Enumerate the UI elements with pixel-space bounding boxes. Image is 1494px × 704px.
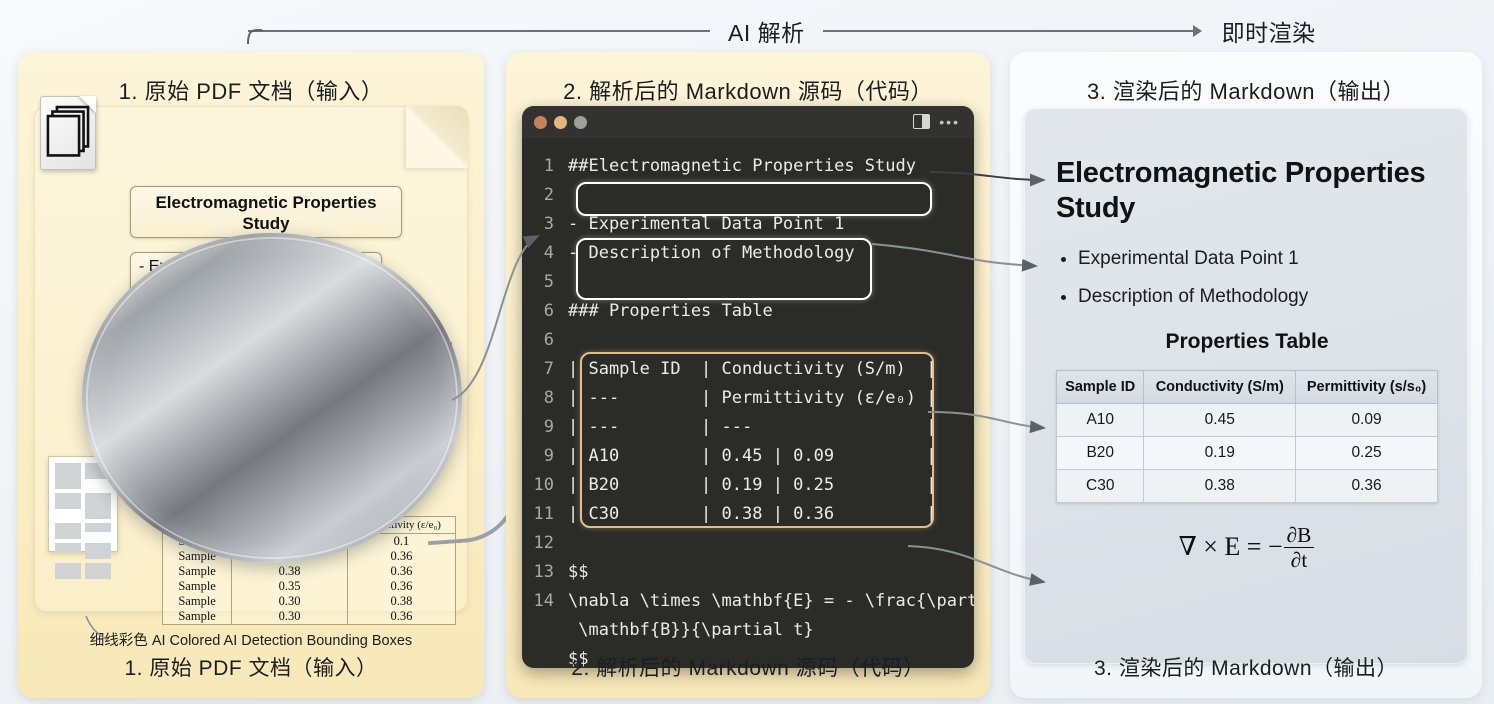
- cell: 0.1: [314, 512, 413, 529]
- code-line: 1##Electromagnetic Properties Study: [522, 152, 974, 181]
- table-header-row: Sample ID Conductivity (S/m) Permittivit…: [1057, 371, 1438, 404]
- table-row: Sample0.300.1: [146, 512, 413, 529]
- flow-arrow-head: [1193, 25, 1202, 37]
- minimize-dot-icon[interactable]: [554, 116, 567, 129]
- close-dot-icon[interactable]: [534, 116, 547, 129]
- cell: 0.30: [232, 609, 348, 625]
- pdf-logo-glyph: 🗍: [41, 111, 95, 157]
- code-line: 10| B20 | 0.19 | 0.25 |: [522, 471, 974, 500]
- line-text: \mathbf{B}}{\partial t}: [568, 616, 814, 645]
- code-line: 2: [522, 181, 974, 210]
- panel-output-title: 3. 渲染后的 Markdown（输出）: [1010, 74, 1482, 106]
- cell: 0.09: [1296, 404, 1438, 437]
- cell: 0.38: [1144, 470, 1296, 503]
- lens-secondary-table: Sample ID Conductivity (S/m) Permittivit…: [145, 492, 413, 556]
- line-number: 1: [522, 152, 568, 181]
- flow-line-left: [248, 30, 710, 32]
- lens-formula-box: ∇ × E = −∂B∂t,: [185, 432, 365, 478]
- cell: 0.36: [314, 544, 413, 556]
- table-header-row: Sample ID Couductivity (S/m) Pennittivit…: [140, 345, 411, 366]
- line-text: \nabla \times \mathbf{E} = - \frac{\part…: [568, 587, 974, 616]
- code-line: 3- Experimental Data Point 1: [522, 210, 974, 239]
- table-row: B200.190.25: [140, 385, 411, 404]
- code-line: 5: [522, 268, 974, 297]
- panel-code-footer: 2. 解析后的 Markdown 源码（代码）: [506, 652, 990, 682]
- pdf-title-bounding-box: Electromagnetic Properties Study: [130, 186, 402, 238]
- pdf-detection-caption: 细线彩色 AI Colored AI Detection Bounding Bo…: [18, 629, 484, 650]
- formula-denominator: ∂t: [1284, 548, 1315, 571]
- formula-numerator: ∂B: [1284, 524, 1315, 548]
- table-row: Sample0.350.36: [163, 579, 456, 594]
- table-header-row: Sample ID Conductivity (S/m) Permittivit…: [146, 493, 413, 512]
- col-header: Permittivity (s/s₀): [1296, 371, 1438, 404]
- output-section-heading: Properties Table: [1056, 330, 1438, 354]
- col-header: Sample ID: [140, 345, 204, 366]
- panel-code-title: 2. 解析后的 Markdown 源码（代码）: [506, 74, 990, 106]
- lens-section-heading: Properties Table: [135, 316, 290, 339]
- cell: 0.36: [1296, 470, 1438, 503]
- cell: 0.38: [347, 594, 455, 609]
- panel-rendered-output: 3. 渲染后的 Markdown（输出） Electromagnetic Pro…: [1010, 52, 1482, 698]
- code-line: 12: [522, 529, 974, 558]
- code-line: 9| A10 | 0.45 | 0.09 |: [522, 442, 974, 471]
- more-options-icon[interactable]: •••: [939, 118, 960, 126]
- col-header: Sample ID: [1057, 371, 1144, 404]
- list-item: Description of Methodology: [1078, 286, 1438, 308]
- lens-bullets-box: - Experimental Data Point 1 - Descriptio…: [127, 248, 383, 298]
- table-row: Sample0.380.36: [163, 564, 456, 579]
- code-line: 14\nabla \times \mathbf{E} = - \frac{\pa…: [522, 587, 974, 616]
- line-text: | Sample ID | Conductivity (S/m) |: [568, 355, 936, 384]
- table-row: Sample6.190.36: [146, 528, 413, 544]
- line-text: ##Electromagnetic Properties Study: [568, 152, 916, 181]
- code-line: 11| C30 | 0.38 | 0.36 |: [522, 500, 974, 529]
- cell: A10: [140, 366, 204, 386]
- line-text: | --- | Permittivity (ε/e₀) |: [568, 384, 936, 413]
- line-number: 7: [522, 355, 568, 384]
- col-header: Conductivity (S/m): [208, 493, 314, 512]
- cell: Sample: [146, 528, 208, 544]
- table-row: Sample0.380.36: [146, 544, 413, 556]
- maximize-dot-icon[interactable]: [574, 116, 587, 129]
- panel-markdown-source: 2. 解析后的 Markdown 源码（代码） ••• 1##Electroma…: [506, 52, 990, 698]
- line-text: - Experimental Data Point 1: [568, 210, 844, 239]
- cell: 0.19: [1144, 437, 1296, 470]
- flow-label-render: 即时渲染: [1222, 14, 1316, 48]
- cell: 0.36: [347, 564, 455, 579]
- output-rendered-formula: ∇ × E = −∂B∂t: [1056, 525, 1438, 573]
- code-content[interactable]: 1##Electromagnetic Properties Study23- E…: [522, 138, 974, 668]
- line-number: 13: [522, 558, 568, 587]
- lens-properties-table: Sample ID Couductivity (S/m) Pennittivit…: [139, 344, 411, 424]
- col-header: Pennittivity (ε/e₀): [311, 345, 410, 366]
- table-row: A100.450.09: [140, 366, 411, 386]
- cell: 0.35: [232, 579, 348, 594]
- cell: C30: [140, 404, 204, 424]
- cell: Sample: [163, 579, 232, 594]
- code-line: 7| Sample ID | Conductivity (S/m) |: [522, 355, 974, 384]
- page-fold-corner: [406, 106, 468, 168]
- line-text: - Description of Methodology: [568, 239, 855, 268]
- code-line: \mathbf{B}}{\partial t}: [522, 616, 974, 645]
- cell: B20: [1057, 437, 1144, 470]
- code-line: 6### Properties Table: [522, 297, 974, 326]
- line-text: | A10 | 0.45 | 0.09 |: [568, 442, 936, 471]
- cell: A10: [1057, 404, 1144, 437]
- code-window-titlebar: •••: [522, 106, 974, 138]
- cell: 0.36: [311, 404, 410, 424]
- code-line: 4- Description of Methodology: [522, 239, 974, 268]
- col-header: Sample ID: [146, 493, 208, 512]
- line-number: 12: [522, 529, 568, 558]
- line-number: 6: [522, 297, 568, 326]
- table-row: Sample0.300.38: [163, 594, 456, 609]
- table-row: B200.190.25: [1057, 437, 1438, 470]
- line-text: | C30 | 0.38 | 0.36 |: [568, 500, 936, 529]
- pdf-file-icon[interactable]: 🗍: [40, 96, 96, 170]
- cell: C30: [1057, 470, 1144, 503]
- cell: Sample: [163, 609, 232, 625]
- line-number: 11: [522, 500, 568, 529]
- line-text: | --- | --- |: [568, 413, 936, 442]
- cell: Sample: [146, 544, 208, 556]
- col-header: Permittivity (ε/e₀): [314, 493, 413, 512]
- cell: 6.19: [208, 528, 314, 544]
- panel-pdf-footer: 1. 原始 PDF 文档（输入）: [18, 652, 484, 682]
- output-properties-table: Sample ID Conductivity (S/m) Permittivit…: [1056, 370, 1438, 503]
- code-editor-window[interactable]: ••• 1##Electromagnetic Properties Study2…: [522, 106, 974, 668]
- table-row: C300.380.36: [140, 404, 411, 424]
- line-number: 10: [522, 471, 568, 500]
- flow-label-parse: AI 解析: [728, 14, 805, 48]
- cell: 0.45: [1144, 404, 1296, 437]
- cell: 0.09: [311, 366, 410, 386]
- cell: 0.36: [347, 609, 455, 625]
- cell: Sample: [163, 594, 232, 609]
- magnifier-lens-content: - Experimental Data Point 1 - Descriptio…: [89, 240, 455, 556]
- code-line: 8| --- | Permittivity (ε/e₀) |: [522, 384, 974, 413]
- line-number: 9: [522, 442, 568, 471]
- cell: 0.38: [208, 544, 314, 556]
- cell: 0.30: [232, 594, 348, 609]
- line-text: $$: [568, 558, 588, 587]
- cell: 0.45: [203, 366, 311, 386]
- table-row: C300.380.36: [1057, 470, 1438, 503]
- cell: Sample: [163, 564, 232, 579]
- cell: 0.19: [203, 385, 311, 404]
- list-item: Experimental Data Point 1: [1078, 248, 1438, 270]
- cell: 0.36: [347, 579, 455, 594]
- output-heading: Electromagnetic Properties Study: [1056, 156, 1438, 226]
- formula-lhs: ∇ × E = −: [1179, 532, 1283, 561]
- split-pane-icon[interactable]: [913, 114, 930, 129]
- line-number: 3: [522, 210, 568, 239]
- code-line: 6: [522, 326, 974, 355]
- flow-line-right: [823, 30, 1193, 32]
- cell: 0.36: [314, 528, 413, 544]
- line-number: 9: [522, 413, 568, 442]
- panel-pdf-input: 1. 原始 PDF 文档（输入） 🗍 Electromagnetic Prope…: [18, 52, 484, 698]
- line-number: 5: [522, 268, 568, 297]
- line-text: ### Properties Table: [568, 297, 773, 326]
- cell: 0.38: [203, 404, 311, 424]
- cell: 0.38: [232, 564, 348, 579]
- line-number: 8: [522, 384, 568, 413]
- cell: 0.25: [311, 385, 410, 404]
- cell: 0.30: [208, 512, 314, 529]
- line-text: | B20 | 0.19 | 0.25 |: [568, 471, 936, 500]
- line-number: 2: [522, 181, 568, 210]
- rendered-markdown-card[interactable]: Electromagnetic Properties Study Experim…: [1024, 108, 1468, 664]
- col-header: Conductivity (S/m): [1144, 371, 1296, 404]
- cell: B20: [140, 385, 204, 404]
- code-line: 13$$: [522, 558, 974, 587]
- line-number: 14: [522, 587, 568, 616]
- cell: 0.25: [1296, 437, 1438, 470]
- output-bullet-list: Experimental Data Point 1 Description of…: [1078, 248, 1438, 308]
- line-number: 4: [522, 239, 568, 268]
- col-header: Couductivity (S/m): [203, 345, 311, 366]
- table-row: Sample0.300.36: [163, 609, 456, 625]
- table-row: A100.450.09: [1057, 404, 1438, 437]
- cell: Sample: [146, 512, 208, 529]
- code-line: 9| --- | --- |: [522, 413, 974, 442]
- panel-output-footer: 3. 渲染后的 Markdown（输出）: [1010, 652, 1482, 682]
- line-number: 6: [522, 326, 568, 355]
